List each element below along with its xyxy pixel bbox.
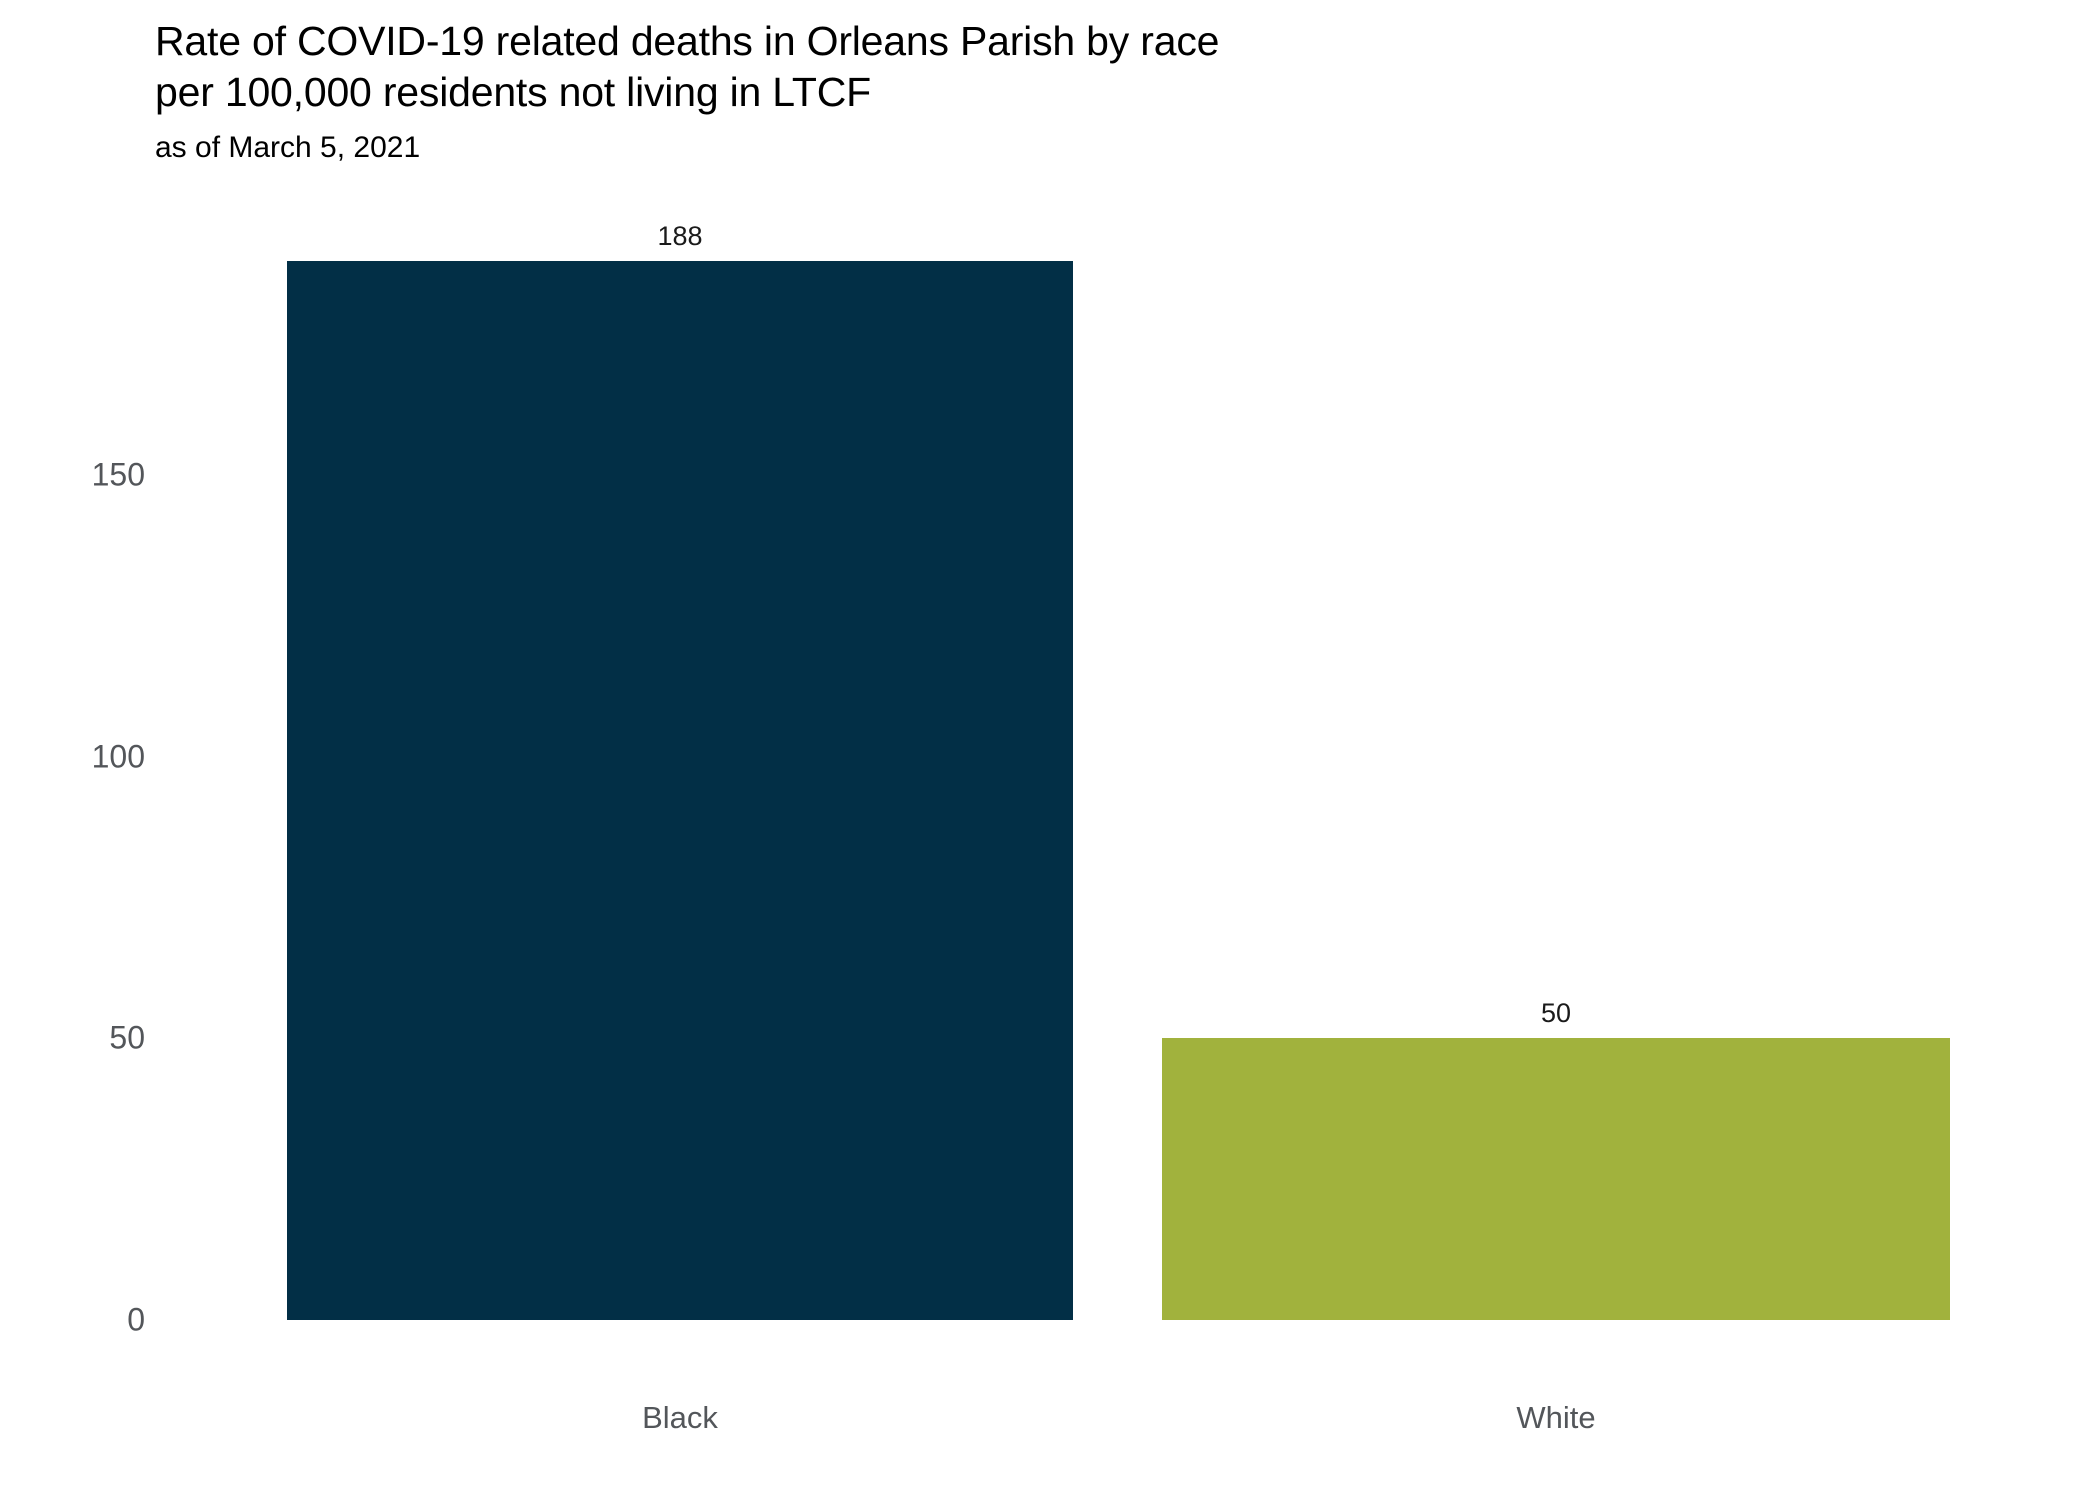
y-axis: 050100150 — [20, 0, 145, 1500]
chart-figure: Rate of COVID-19 related deaths in Orlea… — [0, 0, 2100, 1500]
bar-value-label: 188 — [287, 221, 1073, 252]
x-axis-tick-label-white: White — [1356, 1400, 1756, 1436]
plot-area: 050100150 18850 BlackWhite — [0, 0, 2100, 1500]
x-axis-tick-label-black: Black — [480, 1400, 880, 1436]
bar-value-label: 50 — [1162, 998, 1950, 1029]
y-axis-tick-label: 150 — [25, 457, 145, 494]
y-axis-tick-label: 100 — [25, 738, 145, 775]
bar-white[interactable] — [1162, 1038, 1950, 1320]
bar-black[interactable] — [287, 261, 1073, 1320]
y-axis-tick-label: 50 — [25, 1020, 145, 1057]
y-axis-tick-label: 0 — [25, 1302, 145, 1339]
